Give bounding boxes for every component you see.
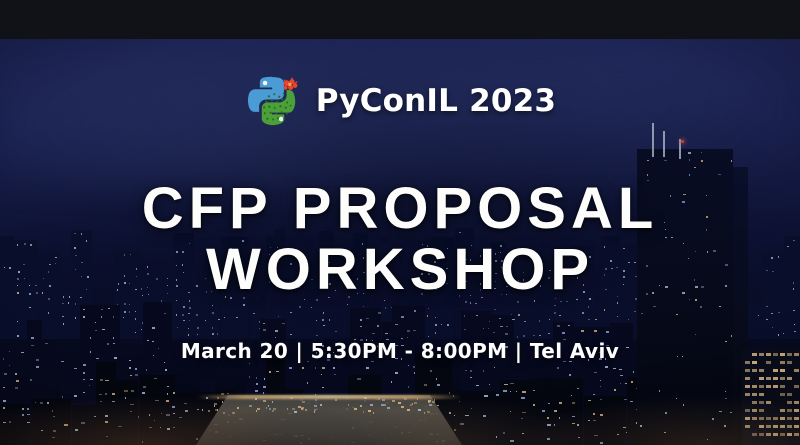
brand-lockup: PyConIL 2023 (0, 72, 800, 130)
event-poster: PyConIL 2023 CFP PROPOSAL WORKSHOP March… (0, 0, 800, 445)
python-cactus-logo-icon (244, 72, 302, 130)
brand-name: PyConIL 2023 (316, 86, 556, 117)
event-details: March 20 | 5:30PM - 8:00PM | Tel Aviv (0, 339, 800, 363)
cactus-flower-icon (283, 78, 297, 90)
headline-line-1: CFP PROPOSAL (142, 176, 659, 241)
headline-line-2: WORKSHOP (0, 239, 800, 300)
top-letterbox-bar (0, 0, 800, 39)
poster-content: PyConIL 2023 CFP PROPOSAL WORKSHOP March… (0, 0, 800, 445)
poster-headline: CFP PROPOSAL WORKSHOP (0, 178, 800, 300)
